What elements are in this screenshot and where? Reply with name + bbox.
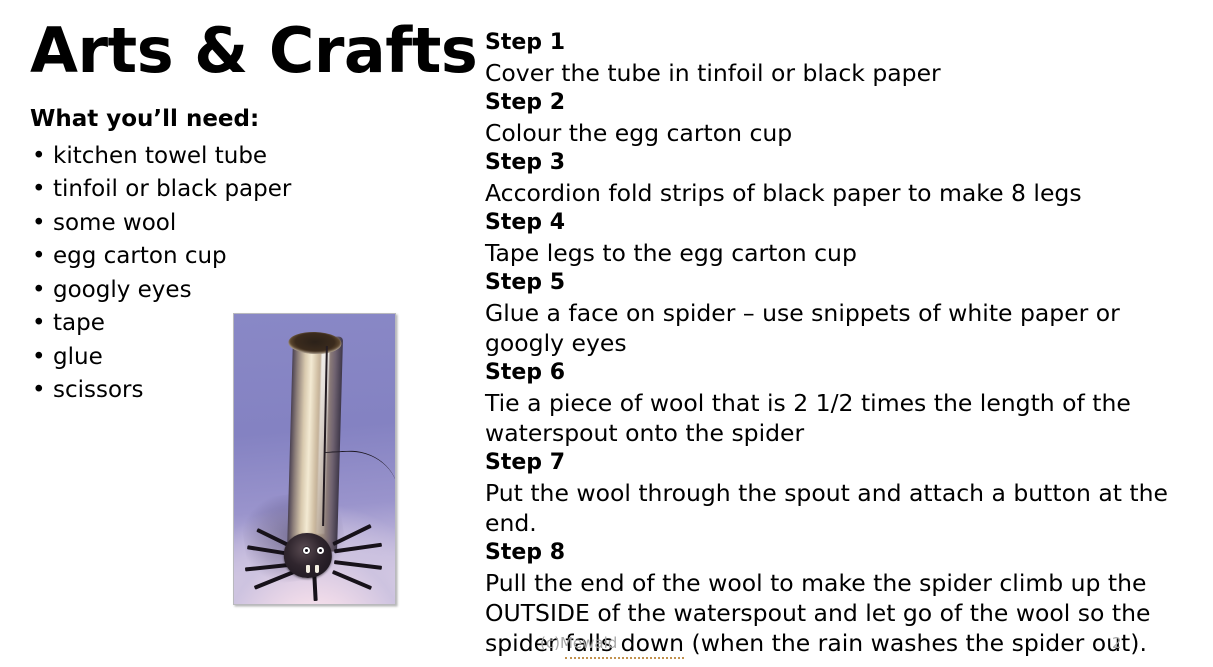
list-item-label: googly eyes — [53, 277, 192, 303]
materials-heading: What you’ll need: — [30, 105, 468, 134]
list-item: • tinfoil or black paper — [28, 173, 468, 207]
list-item: • egg carton cup — [28, 240, 468, 274]
step-block: Step 1 Cover the tube in tinfoil or blac… — [485, 28, 1205, 88]
bullet-icon: • — [32, 307, 46, 341]
step-title: Step 4 — [485, 208, 1205, 238]
step-title: Step 8 — [485, 538, 1205, 568]
bullet-icon: • — [32, 173, 46, 207]
step-title: Step 7 — [485, 448, 1205, 478]
slide: Arts & Crafts What you’ll need: • kitche… — [0, 0, 1213, 667]
bullet-icon: • — [32, 140, 46, 174]
list-item: • some wool — [28, 207, 468, 241]
bullet-icon: • — [32, 274, 46, 308]
step-block: Step 5 Glue a face on spider – use snipp… — [485, 268, 1205, 358]
step-text: Colour the egg carton cup — [485, 118, 1205, 148]
step-text: Cover the tube in tinfoil or black paper — [485, 58, 1205, 88]
step-title: Step 1 — [485, 28, 1205, 58]
list-item: • kitchen towel tube — [28, 140, 468, 174]
bullet-icon: • — [32, 374, 46, 408]
list-item-label: scissors — [53, 377, 144, 403]
list-item-label: glue — [53, 344, 103, 370]
step-text: Tape legs to the egg carton cup — [485, 238, 1205, 268]
step-block: Step 2 Colour the egg carton cup — [485, 88, 1205, 148]
bullet-icon: • — [32, 240, 46, 274]
step-block: Step 4 Tape legs to the egg carton cup — [485, 208, 1205, 268]
step-text: Accordion fold strips of black paper to … — [485, 178, 1205, 208]
page-title: Arts & Crafts — [30, 18, 468, 83]
list-item: • googly eyes — [28, 274, 468, 308]
spider-fang — [306, 565, 310, 573]
list-item-label: kitchen towel tube — [53, 143, 267, 169]
step-text: Glue a face on spider – use snippets of … — [485, 298, 1205, 358]
step-block: Step 6 Tie a piece of wool that is 2 1/2… — [485, 358, 1205, 448]
steps-column: Step 1 Cover the tube in tinfoil or blac… — [485, 28, 1205, 658]
step-title: Step 6 — [485, 358, 1205, 388]
footer-credit: (c)Mewald — [540, 634, 617, 652]
bullet-icon: • — [32, 207, 46, 241]
step-text: Put the wool through the spout and attac… — [485, 478, 1205, 538]
step-block: Step 7 Put the wool through the spout an… — [485, 448, 1205, 538]
step-text: Tie a piece of wool that is 2 1/2 times … — [485, 388, 1205, 448]
craft-photo — [233, 313, 396, 605]
spider-fang — [315, 565, 319, 573]
list-item-label: some wool — [53, 210, 176, 236]
step-text-after: (when the rain washes the spider out). — [684, 629, 1147, 657]
step-title: Step 3 — [485, 148, 1205, 178]
list-item-label: tinfoil or black paper — [53, 176, 291, 202]
step-title: Step 5 — [485, 268, 1205, 298]
spider-pupil — [319, 549, 322, 552]
foil-tube-shape — [287, 335, 343, 551]
list-item-label: tape — [53, 310, 105, 336]
bullet-icon: • — [32, 341, 46, 375]
step-title: Step 2 — [485, 88, 1205, 118]
spider-pupil — [305, 549, 308, 552]
list-item-label: egg carton cup — [53, 243, 227, 269]
page-number: 2 — [1112, 634, 1122, 652]
step-block: Step 3 Accordion fold strips of black pa… — [485, 148, 1205, 208]
